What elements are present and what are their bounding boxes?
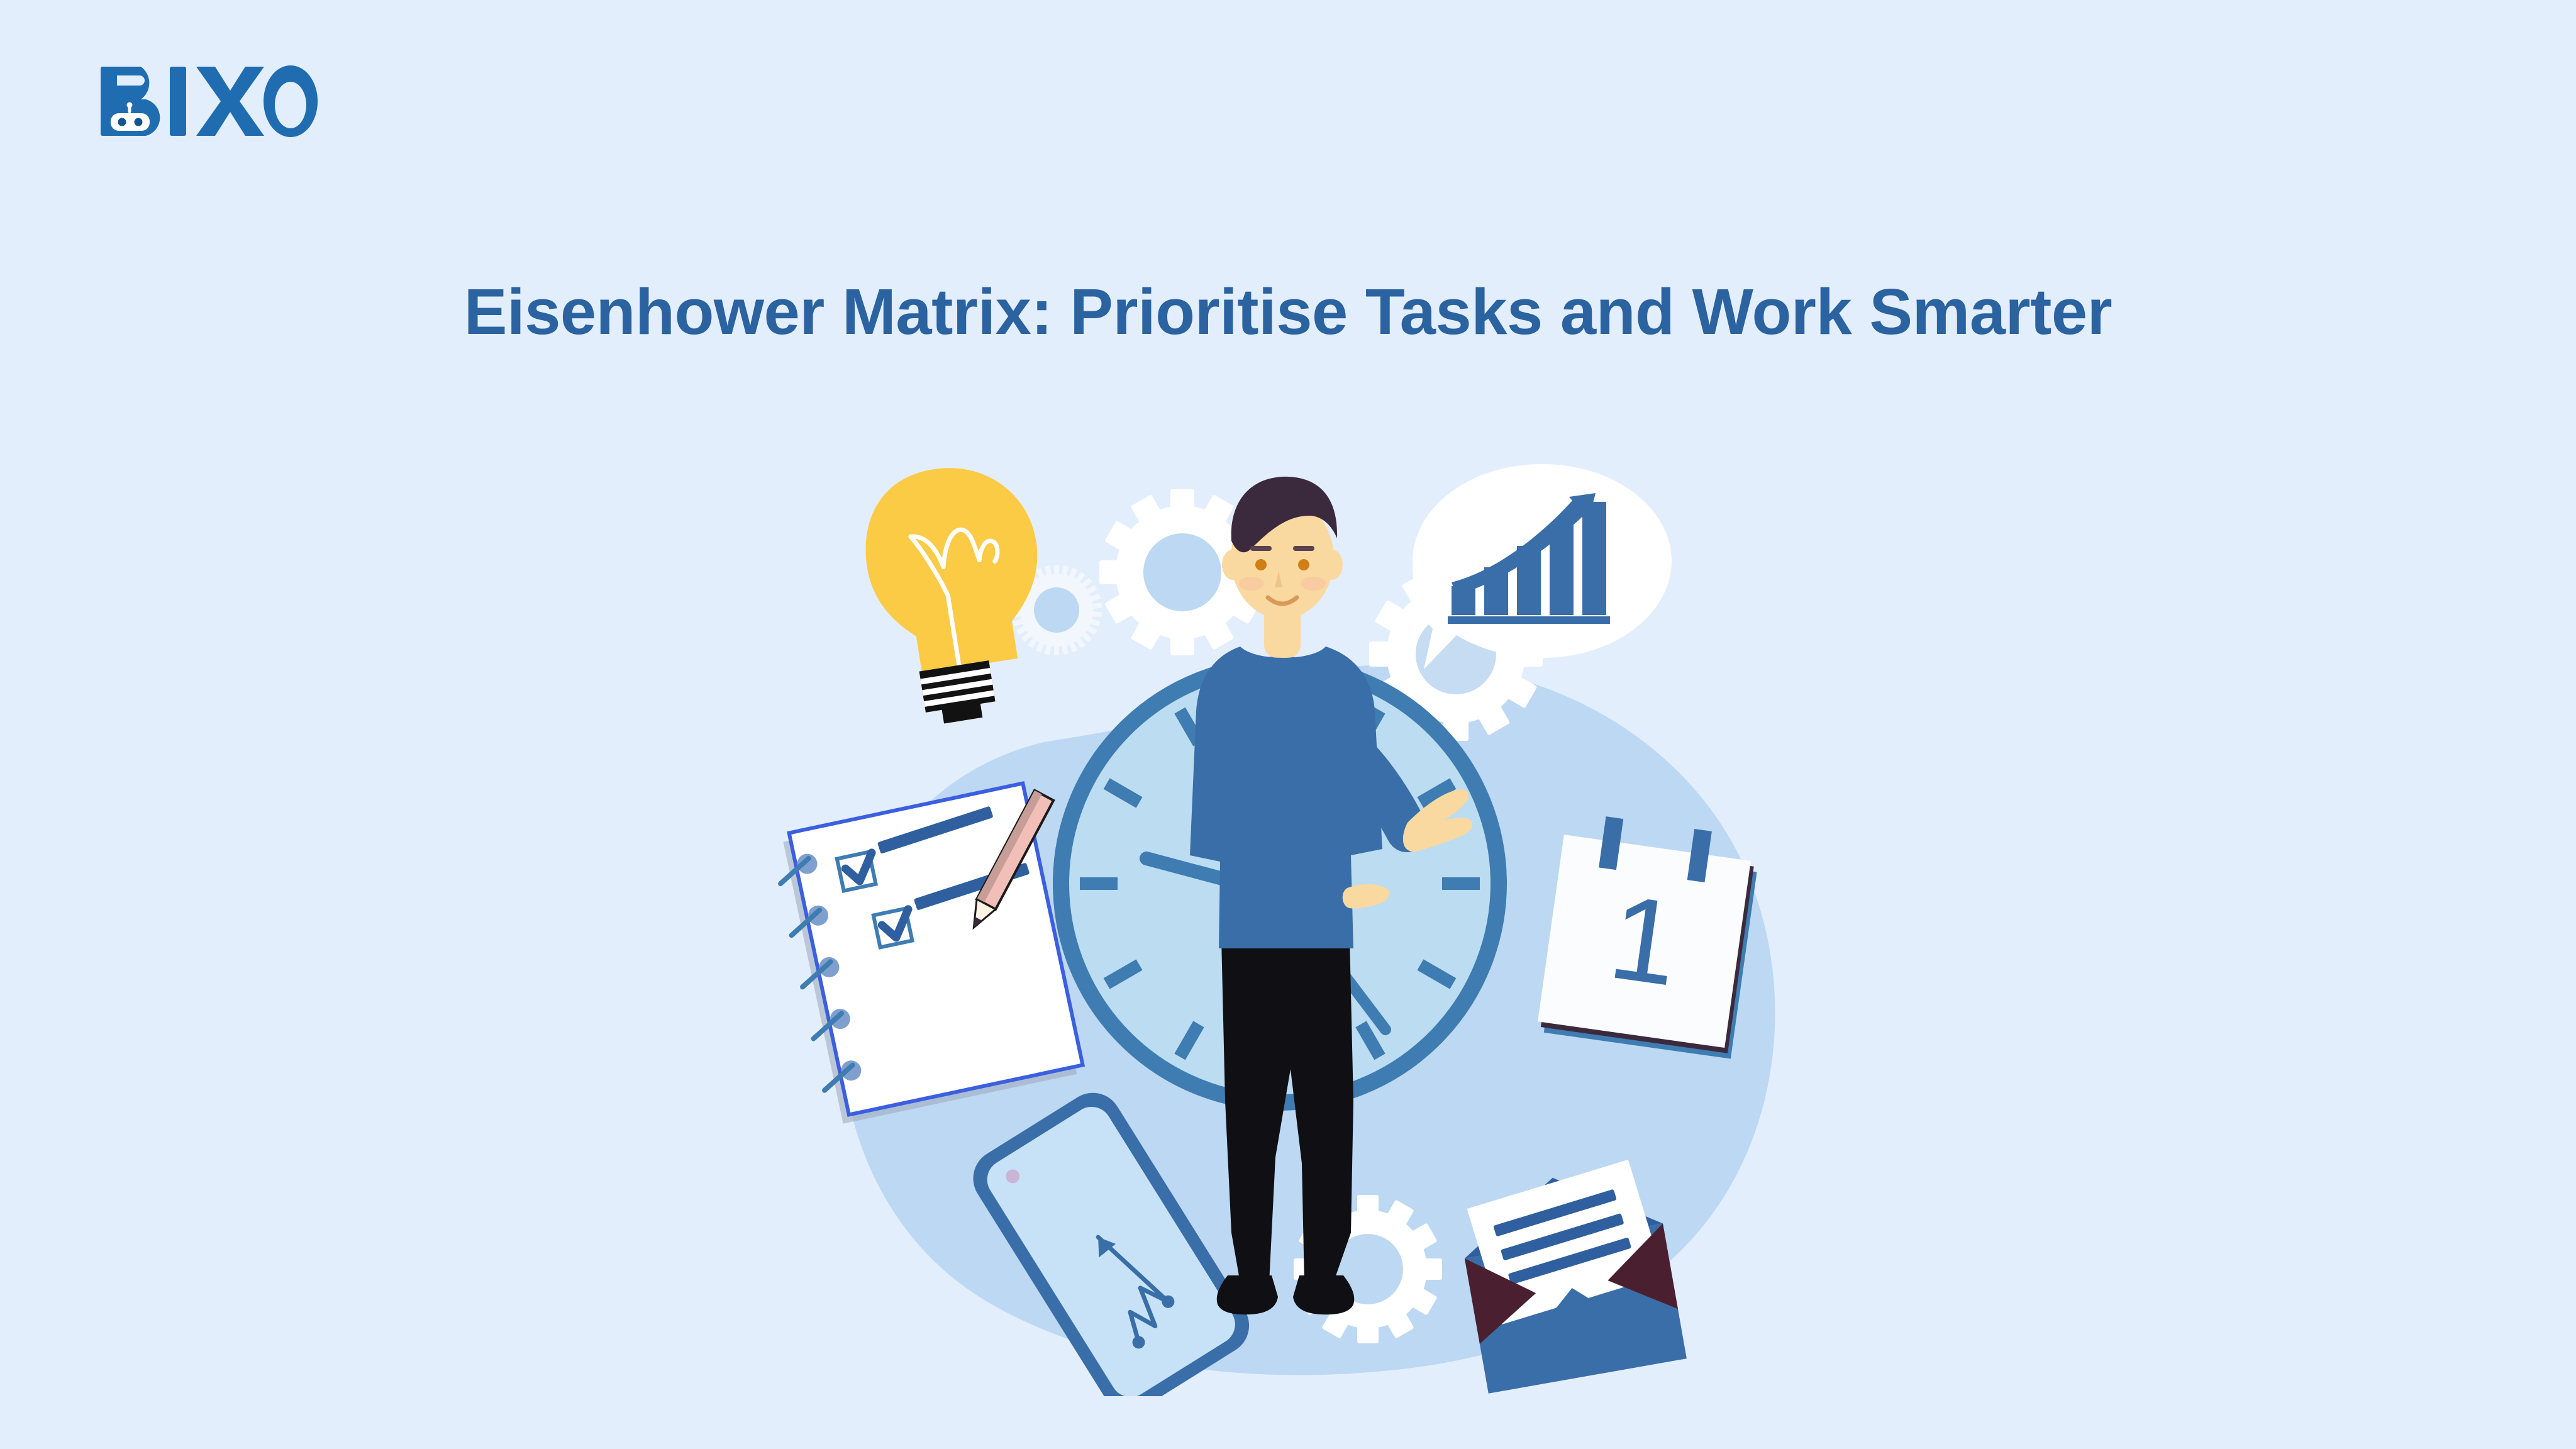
brand-logo[interactable] — [96, 60, 322, 142]
growth-chart-bubble — [1413, 464, 1672, 669]
logo-letter-x — [196, 67, 264, 136]
logo-letter-o — [264, 65, 318, 137]
hero-illustration: 1 — [748, 415, 1830, 1396]
page-root: Eisenhower Matrix: Prioritise Tasks and … — [0, 0, 2576, 1449]
bulb-base — [919, 660, 997, 726]
page-title: Eisenhower Matrix: Prioritise Tasks and … — [0, 275, 2576, 349]
person-shoe-right — [1293, 1275, 1354, 1314]
person-shoe-left — [1217, 1275, 1278, 1314]
logo-letter-i — [170, 67, 186, 136]
